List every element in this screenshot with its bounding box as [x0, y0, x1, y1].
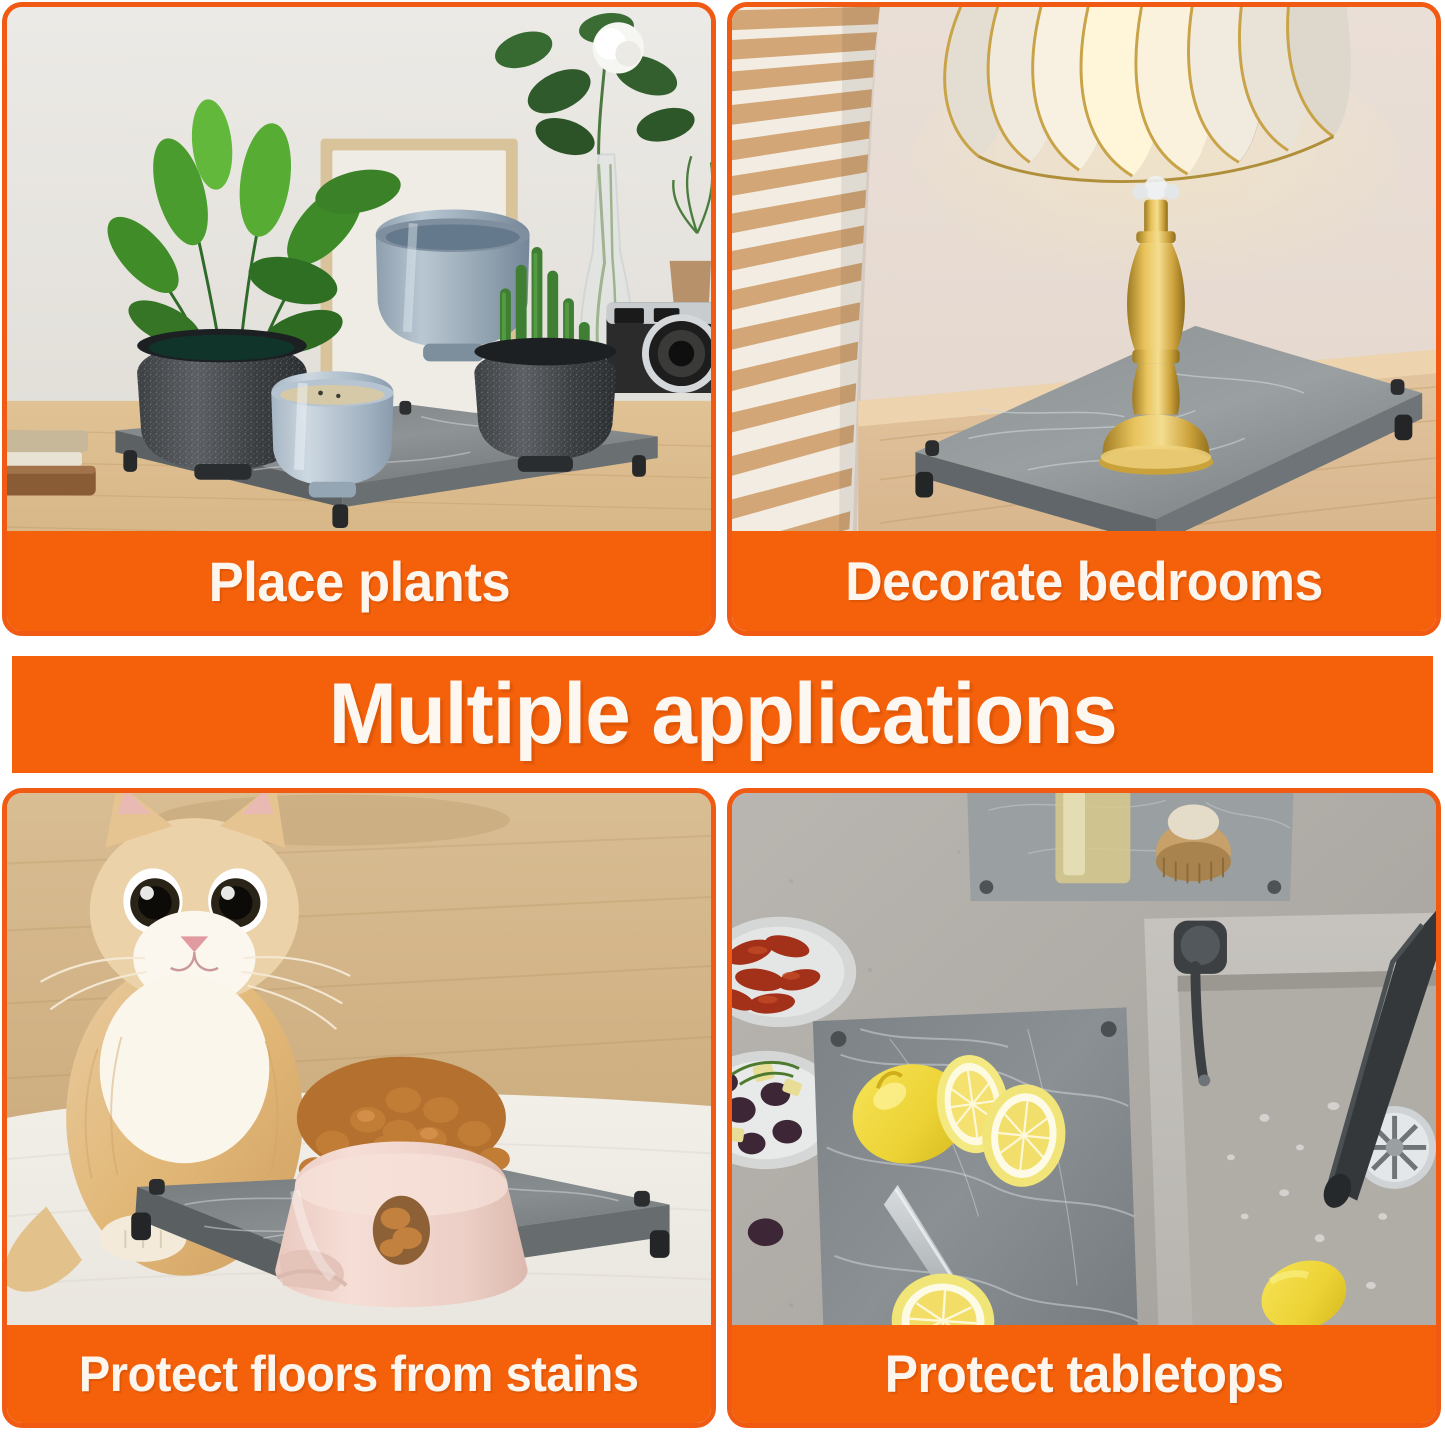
tray-foot [632, 455, 646, 477]
panel-decorate-bedrooms[interactable]: Decorate bedrooms [727, 2, 1441, 636]
tray-foot [131, 1213, 151, 1241]
caption-bar-place-plants: Place plants [7, 531, 711, 631]
tray-foot [925, 440, 939, 456]
caption-label: Protect tabletops [885, 1344, 1284, 1405]
loose-olive [748, 1218, 783, 1246]
pet-bowl [275, 1057, 527, 1307]
panel-place-plants[interactable]: Place plants [2, 2, 716, 636]
tray-foot [1391, 379, 1405, 395]
banner-title: Multiple applications [328, 665, 1116, 764]
vintage-camera [606, 302, 711, 393]
product-usage-infographic: Place plants [0, 0, 1445, 1432]
tray-foot [634, 1191, 650, 1207]
back-stone-mat [967, 793, 1294, 901]
panel-protect-tabletops[interactable]: Protect tabletops [727, 788, 1441, 1428]
center-banner: Multiple applications [12, 656, 1433, 773]
tray-foot [149, 1179, 165, 1195]
caption-bar-protect-floors: Protect floors from stains [7, 1325, 711, 1423]
caption-label: Place plants [208, 549, 510, 614]
tray-foot [915, 472, 933, 498]
caption-label: Protect floors from stains [79, 1345, 639, 1403]
tray-foot [650, 1230, 670, 1258]
caption-bar-protect-tabletops: Protect tabletops [732, 1325, 1436, 1423]
panel-protect-floors[interactable]: Protect floors from stains [2, 788, 716, 1428]
caption-bar-decorate-bedrooms: Decorate bedrooms [732, 531, 1436, 631]
tray-foot [332, 504, 348, 528]
caption-label: Decorate bedrooms [845, 549, 1323, 613]
tray-foot [399, 401, 411, 415]
tray-foot [123, 450, 137, 472]
tray-foot [1395, 415, 1413, 441]
